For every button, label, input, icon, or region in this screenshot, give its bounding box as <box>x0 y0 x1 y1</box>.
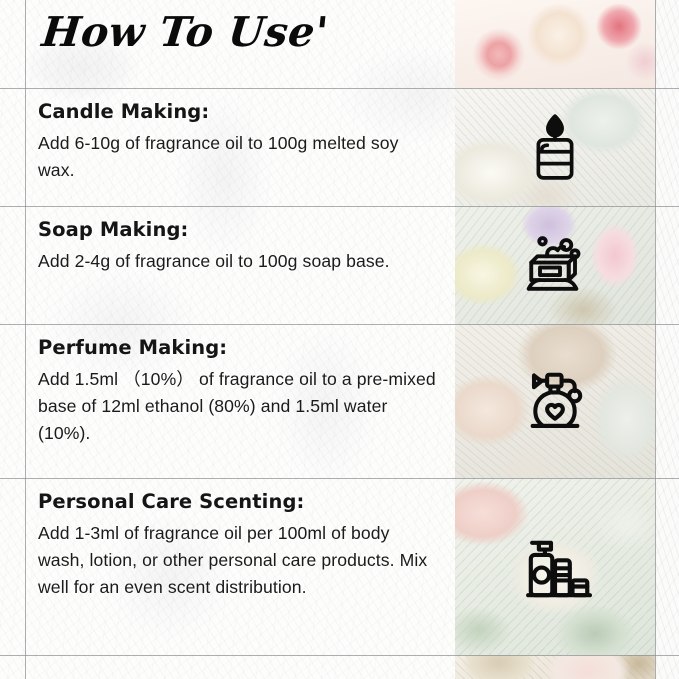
section-heading: Candle Making: <box>38 100 436 123</box>
section-heading: Personal Care Scenting: <box>38 490 436 513</box>
divider-rule-5 <box>0 655 679 656</box>
divider-rule-2 <box>0 206 679 207</box>
decor-image-top-roses <box>455 0 655 88</box>
right-column-rule <box>655 0 656 679</box>
perfume-bottle-icon <box>455 324 655 478</box>
section-body: Add 1.5ml （10%） of fragrance oil to a pr… <box>38 366 436 446</box>
how-to-use-infographic: How To Use' Candle Making: Add 6-10g of … <box>0 0 679 679</box>
section-image-perfume <box>455 324 655 478</box>
section-image-personal-care <box>455 478 655 655</box>
personal-care-products-icon <box>455 478 655 655</box>
section-heading: Soap Making: <box>38 218 436 241</box>
divider-rule-1 <box>0 88 679 89</box>
left-margin-rule <box>25 0 26 679</box>
section-body: Add 2-4g of fragrance oil to 100g soap b… <box>38 248 436 275</box>
section-candle-making: Candle Making: Add 6-10g of fragrance oi… <box>38 100 436 184</box>
divider-rule-3 <box>0 324 679 325</box>
soap-bar-icon <box>455 206 655 324</box>
divider-rule-4 <box>0 478 679 479</box>
section-body: Add 1-3ml of fragrance oil per 100ml of … <box>38 520 436 600</box>
candle-icon <box>455 88 655 206</box>
section-image-candle <box>455 88 655 206</box>
section-perfume-making: Perfume Making: Add 1.5ml （10%） of fragr… <box>38 336 436 447</box>
right-margin-strip <box>655 0 679 679</box>
section-body: Add 6-10g of fragrance oil to 100g melte… <box>38 130 436 183</box>
section-soap-making: Soap Making: Add 2-4g of fragrance oil t… <box>38 218 436 275</box>
section-personal-care-scenting: Personal Care Scenting: Add 1-3ml of fra… <box>38 490 436 601</box>
decor-image-bottom-floral <box>455 655 655 679</box>
section-image-soap <box>455 206 655 324</box>
section-heading: Perfume Making: <box>38 336 436 359</box>
page-title: How To Use' <box>40 12 330 53</box>
